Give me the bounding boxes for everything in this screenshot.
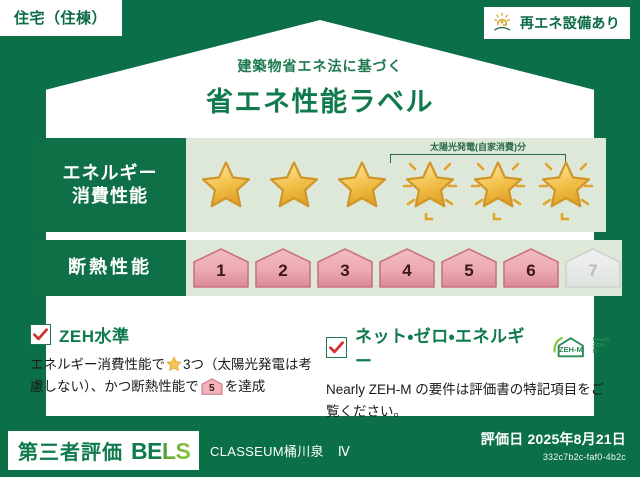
renewable-badge-label: 再エネ設備あり — [520, 13, 620, 33]
energy-star-solar — [532, 138, 600, 232]
building-sequence: Ⅳ — [338, 444, 350, 459]
category-tag-label: 住宅（住棟） — [14, 10, 107, 27]
nze-note: ネット・ゼロ・エネルギー ZEH-M Nearly ZEH-M Nearly Z… — [326, 322, 610, 423]
insulation-level-value: 7 — [588, 261, 597, 289]
energy-performance-row: エネルギー 消費性能 太陽光発電(自家消費)分 — [34, 138, 606, 232]
nze-note-header: ネット・ゼロ・エネルギー ZEH-M Nearly ZEH-M — [326, 322, 610, 372]
zeh-body-part1: エネルギー消費性能で — [30, 357, 165, 372]
rating-panel: エネルギー 消費性能 太陽光発電(自家消費)分 断熱性能 1234567 — [34, 138, 606, 304]
insulation-level-badge: 1 — [192, 247, 250, 289]
insulation-level-badge: 4 — [378, 247, 436, 289]
star-icon — [403, 159, 457, 211]
svg-text:ZEH-M: ZEH-M — [559, 345, 583, 354]
evaluation-id: 332c7b2c-faf0-4b2c — [481, 452, 626, 462]
insulation-level-badge: 6 — [502, 247, 560, 289]
zeh-note-title: ZEH水準 — [59, 322, 130, 347]
insulation-level-value: 4 — [402, 261, 411, 289]
checkmark-icon — [30, 324, 51, 345]
renewable-equipment-badge: 再エネ設備あり — [484, 7, 630, 39]
energy-label-root: 住宅（住棟） 再エネ設備あり 建築物省エネ法に基づく 省エネ性能ラベル エネルギ… — [0, 0, 640, 477]
bels-jp-label: 第三者評価 — [18, 436, 123, 465]
criteria-notes: ZEH水準 エネルギー消費性能で3つ（太陽光発電は考慮しない）、かつ断熱性能で5… — [30, 322, 610, 423]
inline-insulation-badge: 5 — [201, 378, 223, 395]
footer-meta: 評価日 2025年8月21日 332c7b2c-faf0-4b2c — [481, 429, 626, 462]
energy-star-base — [192, 138, 260, 232]
energy-star-solar — [396, 138, 464, 232]
star-icon — [335, 159, 389, 211]
zeh-m-logo-caption: Nearly ZEH-M — [593, 338, 610, 355]
star-icon — [267, 159, 321, 211]
energy-label-line1: エネルギー — [63, 162, 158, 185]
insulation-level-value: 2 — [278, 261, 287, 289]
label-title-sub: 建築物省エネ法に基づく — [0, 56, 640, 76]
energy-performance-label: エネルギー 消費性能 — [34, 138, 186, 232]
insulation-label-text: 断熱性能 — [68, 256, 152, 279]
checkmark-icon — [326, 337, 347, 358]
star-icon — [199, 159, 253, 211]
building-name-text: CLASSEUM桶川泉 — [210, 444, 324, 459]
energy-star-base — [328, 138, 396, 232]
zeh-body-part3: を達成 — [225, 379, 266, 394]
zeh-note-header: ZEH水準 — [30, 322, 314, 347]
insulation-level-value: 6 — [526, 261, 535, 289]
bels-en-label: BELS — [131, 438, 190, 465]
bels-plate: 第三者評価 BELS — [8, 431, 199, 470]
label-title-main: 省エネ性能ラベル — [0, 80, 640, 119]
energy-star-track: 太陽光発電(自家消費)分 — [186, 138, 606, 232]
energy-star-base — [260, 138, 328, 232]
insulation-performance-label: 断熱性能 — [34, 240, 186, 296]
nze-note-title: ネット・ゼロ・エネルギー — [355, 322, 539, 372]
label-footer: 第三者評価 BELS CLASSEUM桶川泉Ⅳ 評価日 2025年8月21日 3… — [0, 423, 640, 477]
star-icon — [539, 159, 593, 211]
energy-label-line2: 消費性能 — [72, 185, 148, 208]
energy-stars — [186, 138, 606, 232]
solar-sun-icon — [492, 12, 514, 34]
insulation-level-value: 1 — [216, 261, 225, 289]
zeh-m-logo: ZEH-M Nearly ZEH-M — [551, 334, 610, 360]
zeh-note-body: エネルギー消費性能で3つ（太陽光発電は考慮しない）、かつ断熱性能で5を達成 — [30, 354, 314, 398]
insulation-level-value: 5 — [464, 261, 473, 289]
inline-star-icon — [166, 356, 182, 372]
inline-badge-value: 5 — [201, 381, 223, 397]
evaluation-date: 評価日 2025年8月21日 — [481, 429, 626, 449]
insulation-level-badge: 5 — [440, 247, 498, 289]
insulation-level-badge: 7 — [564, 247, 622, 289]
building-name: CLASSEUM桶川泉Ⅳ — [210, 441, 350, 460]
star-icon — [471, 159, 525, 211]
nze-note-body: Nearly ZEH-M の要件は評価書の特記項目をご覧ください。 — [326, 379, 610, 423]
zeh-note: ZEH水準 エネルギー消費性能で3つ（太陽光発電は考慮しない）、かつ断熱性能で5… — [30, 322, 314, 423]
insulation-performance-row: 断熱性能 1234567 — [34, 240, 606, 296]
energy-star-solar — [464, 138, 532, 232]
label-title-block: 建築物省エネ法に基づく 省エネ性能ラベル — [0, 56, 640, 119]
zeh-m-house-icon: ZEH-M — [551, 334, 591, 360]
category-tag: 住宅（住棟） — [0, 0, 122, 36]
insulation-level-value: 3 — [340, 261, 349, 289]
insulation-level-track: 1234567 — [186, 240, 622, 296]
zeh-m-logo-sub2: ZEH-M — [593, 344, 610, 356]
insulation-level-badge: 2 — [254, 247, 312, 289]
insulation-level-badge: 3 — [316, 247, 374, 289]
